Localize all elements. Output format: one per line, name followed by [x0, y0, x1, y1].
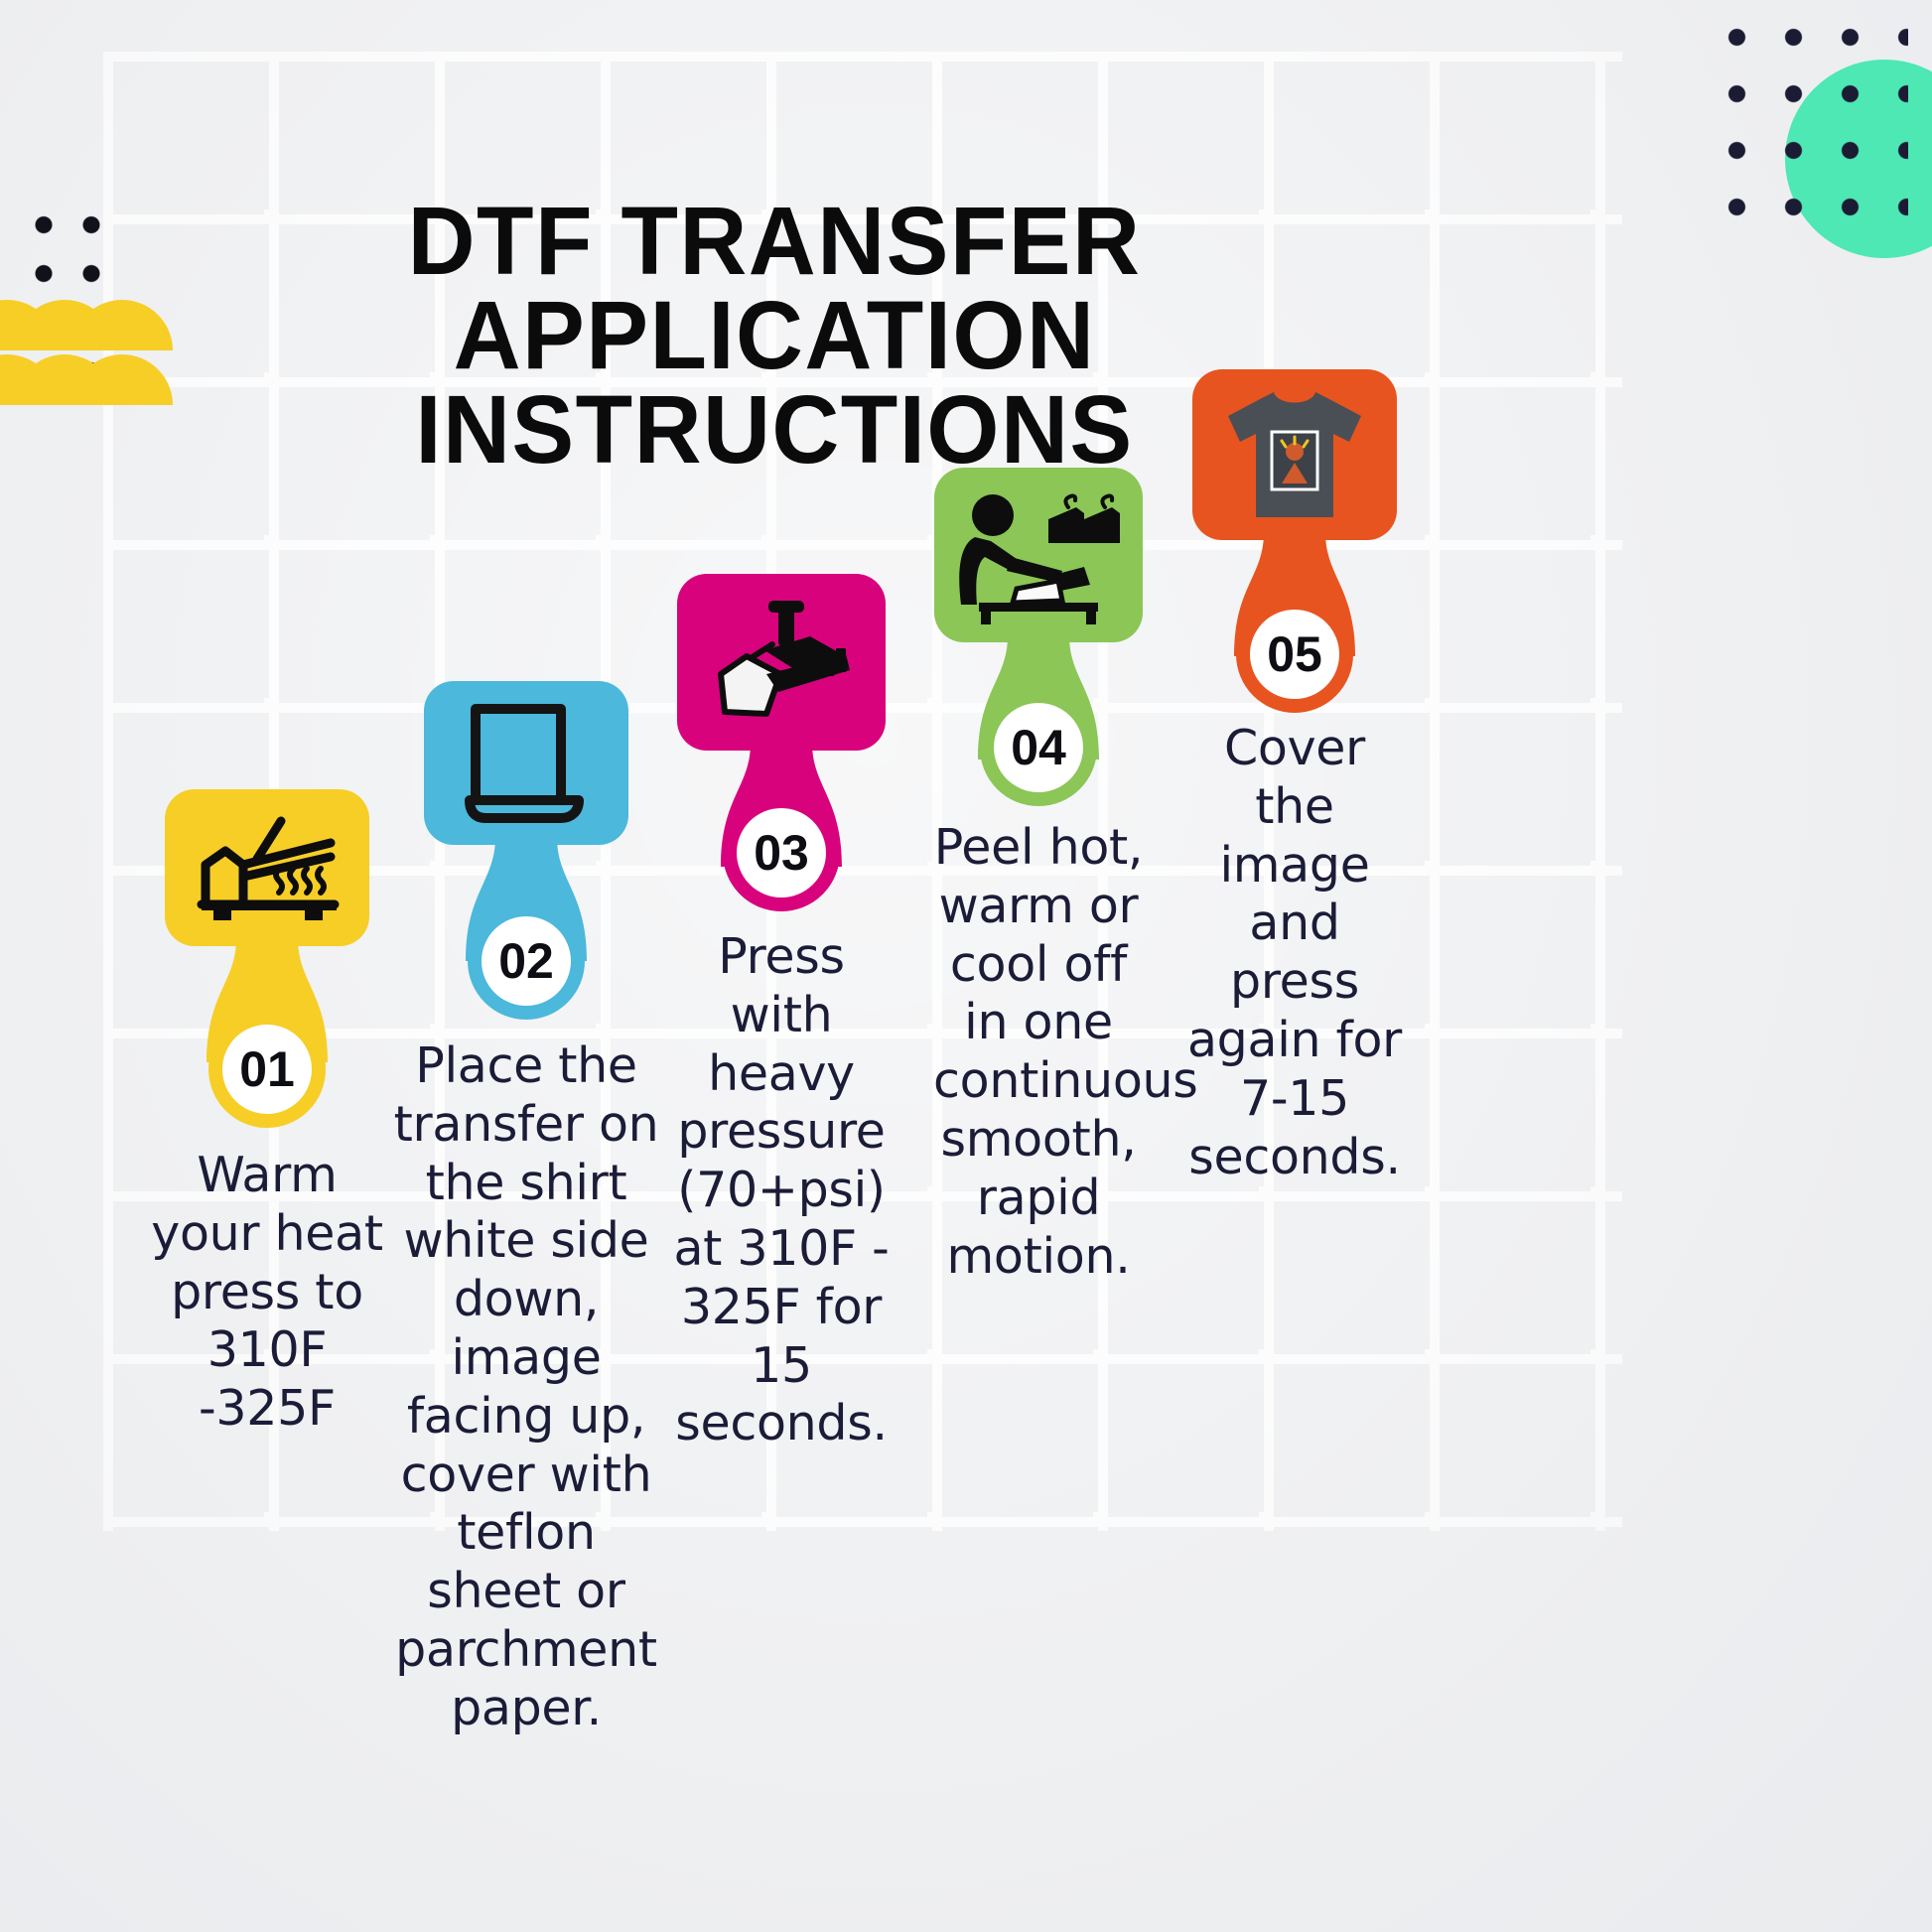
- step-02-number: 02: [498, 932, 554, 990]
- transfer-sheet-icon: [462, 701, 591, 826]
- infographic-canvas: DTF TRANSFER APPLICATION INSTRUCTIONS: [0, 0, 1932, 1932]
- step-04-number-badge: 04: [980, 689, 1097, 806]
- step-02-icon-card[interactable]: [424, 681, 628, 845]
- step-05-number: 05: [1267, 625, 1322, 683]
- heat-press-pressing-icon: [707, 597, 856, 728]
- step-02-number-badge: 02: [468, 902, 585, 1020]
- step-03-number: 03: [754, 824, 809, 882]
- step-04-icon-card[interactable]: [934, 468, 1143, 642]
- step-03-caption: Press with heavy pressure (70+psi) at 31…: [664, 928, 898, 1453]
- step-01-number-badge: 01: [208, 1011, 326, 1128]
- step-04-caption: Peel hot, warm or cool off in one contin…: [933, 819, 1144, 1286]
- step-05-caption: Cover the image and press again for 7-15…: [1186, 720, 1403, 1186]
- step-04-number: 04: [1011, 719, 1066, 776]
- steps-container: 01 Warm your heat press to 310F -325F: [0, 0, 1932, 1932]
- step-05-number-badge: 05: [1236, 596, 1353, 713]
- printed-tshirt-icon: [1220, 384, 1369, 525]
- step-03-number-badge: 03: [723, 794, 840, 911]
- step-05-icon-card[interactable]: [1192, 369, 1397, 540]
- step-01-number: 01: [239, 1040, 295, 1098]
- step-03-icon-card[interactable]: [677, 574, 886, 751]
- step-01-caption: Warm your heat press to 310F -325F: [143, 1147, 391, 1439]
- peeling-transfer-icon: [951, 485, 1126, 624]
- heat-press-icon: [194, 813, 341, 922]
- step-01-icon-card[interactable]: [165, 789, 369, 946]
- step-02-caption: Place the transfer on the shirt white si…: [391, 1037, 661, 1738]
